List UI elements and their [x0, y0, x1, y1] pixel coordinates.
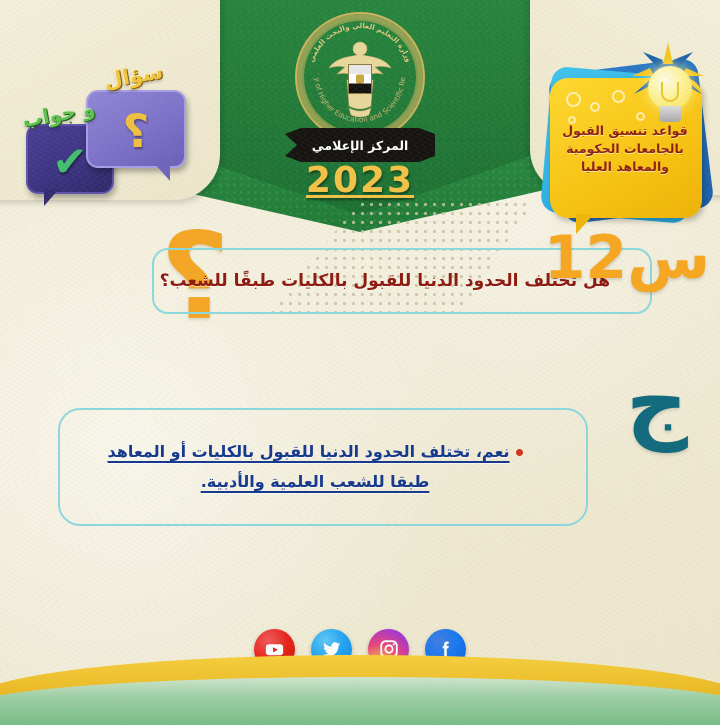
topic-line: قواعد تنسيق القبول: [554, 122, 696, 140]
bubble-dot: [566, 92, 581, 107]
footer-green-band: [0, 677, 720, 725]
qa-speech-bubble-badge: ✔ ؟ و جواب سؤال: [8, 62, 198, 194]
topic-badge: قواعد تنسيق القبول بالجامعات الحكومية وا…: [530, 26, 712, 226]
answer-line: نعم، تختلف الحدود الدنيا للقبول بالكليات…: [108, 437, 523, 467]
bubble-dot: [590, 102, 600, 112]
qa-label-question: سؤال: [102, 59, 165, 93]
infographic-poster: ✔ ؟ و جواب سؤال وزارة التعليم العالي وال…: [0, 0, 720, 725]
bubble-dot: [612, 90, 625, 103]
bullet-dot-icon: [516, 449, 523, 456]
answer-marker-label: ج: [626, 360, 688, 446]
bulb-filament: [661, 82, 679, 102]
topic-text-block: قواعد تنسيق القبول بالجامعات الحكومية وا…: [554, 122, 696, 176]
topic-line: بالجامعات الحكومية: [554, 140, 696, 158]
answer-line-text: نعم، تختلف الحدود الدنيا للقبول بالكليات…: [108, 442, 510, 461]
question-number-label: س12: [544, 228, 710, 288]
ribbon-label: المركز الإعلامي: [312, 138, 409, 153]
answer-text-block: نعم، تختلف الحدود الدنيا للقبول بالكليات…: [58, 408, 572, 526]
year-label: 2023: [287, 160, 433, 201]
topic-line: والمعاهد العليا: [554, 158, 696, 176]
egypt-flag-shield: [348, 64, 372, 94]
lightbulb-icon: [630, 42, 706, 132]
ministry-logo: وزارة التعليم العالي والبحث العلمي Minis…: [287, 12, 433, 162]
question-mark-icon: ؟: [86, 92, 186, 170]
logo-ribbon: المركز الإعلامي: [285, 128, 435, 162]
bulb-base: [659, 106, 681, 122]
answer-line: طبقا للشعب العلمية والأدبية.: [201, 467, 430, 497]
